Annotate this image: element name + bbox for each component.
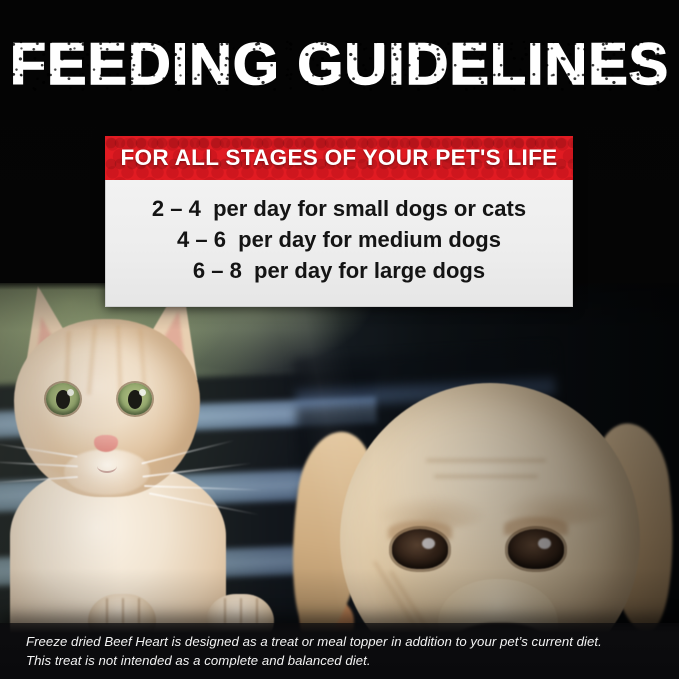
card-header-label: FOR ALL STAGES OF YOUR PET'S LIFE (121, 145, 558, 171)
disclaimer-line-2: This treat is not intended as a complete… (26, 651, 679, 670)
feeding-line-large: 6 – 8 per day for large dogs (106, 255, 572, 286)
feeding-line-small: 2 – 4 per day for small dogs or cats (106, 193, 572, 224)
disclaimer-bar: Freeze dried Beef Heart is designed as a… (0, 623, 679, 679)
photo-vignette (0, 283, 679, 679)
feeding-guidelines-poster: FEEDING GUIDELINES FOR ALL STAGES OF YOU… (0, 0, 679, 679)
card-body: 2 – 4 per day for small dogs or cats 4 –… (105, 180, 573, 307)
page-title: FEEDING GUIDELINES (0, 36, 679, 94)
card-header-banner: FOR ALL STAGES OF YOUR PET'S LIFE (105, 136, 573, 180)
page-title-text: FEEDING GUIDELINES (10, 32, 669, 97)
pets-photo (0, 283, 679, 679)
feeding-guidelines-card: FOR ALL STAGES OF YOUR PET'S LIFE 2 – 4 … (105, 136, 573, 307)
feeding-line-medium: 4 – 6 per day for medium dogs (106, 224, 572, 255)
disclaimer-line-1: Freeze dried Beef Heart is designed as a… (26, 632, 679, 651)
